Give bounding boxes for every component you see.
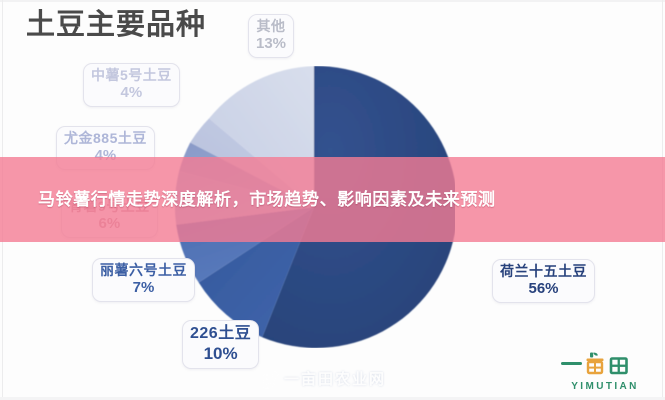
brand-wordmark: YIMUTIAN	[559, 381, 651, 392]
weibo-icon	[258, 369, 280, 389]
pie-label-zhongshu5-percent: 4%	[91, 85, 172, 102]
chart-title: 土豆主要品种	[26, 7, 206, 43]
pie-label-helan15-percent: 56%	[500, 281, 587, 298]
pie-label-lishu6-percent: 7%	[100, 280, 187, 297]
brand-logo: YIMUTIAN	[559, 349, 651, 392]
pie-label-other-name: 其他	[256, 19, 286, 35]
page-edge-top	[0, 0, 665, 2]
pie-label-other: 其他 13%	[248, 14, 294, 58]
pie-label-226: 226土豆 10%	[182, 320, 259, 369]
pie-label-other-percent: 13%	[256, 36, 286, 53]
pie-label-youjin885-name: 尤金885土豆	[64, 131, 147, 147]
pie-label-226-percent: 10%	[190, 344, 251, 363]
pie-label-zhongshu5: 中薯5号土豆 4%	[83, 63, 180, 107]
watermark-text: 一亩田农业网	[284, 368, 386, 389]
yimutian-logo-icon	[559, 349, 651, 375]
pie-label-zhongshu5-name: 中薯5号土豆	[91, 68, 172, 84]
infographic-canvas: 土豆主要品种	[0, 0, 665, 400]
pie-label-helan15: 荷兰十五土豆 56%	[492, 259, 595, 303]
pie-label-helan15-name: 荷兰十五土豆	[500, 264, 587, 280]
pie-label-226-name: 226土豆	[190, 325, 251, 343]
pie-label-lishu6: 丽薯六号土豆 7%	[92, 258, 195, 302]
weibo-watermark: 一亩田农业网	[258, 368, 386, 389]
headline-overlay-band: 马铃薯行情走势深度解析，市场趋势、影响因素及未来预测	[0, 157, 665, 242]
headline-text: 马铃薯行情走势深度解析，市场趋势、影响因素及未来预测	[0, 187, 665, 213]
pie-label-lishu6-name: 丽薯六号土豆	[100, 263, 187, 279]
